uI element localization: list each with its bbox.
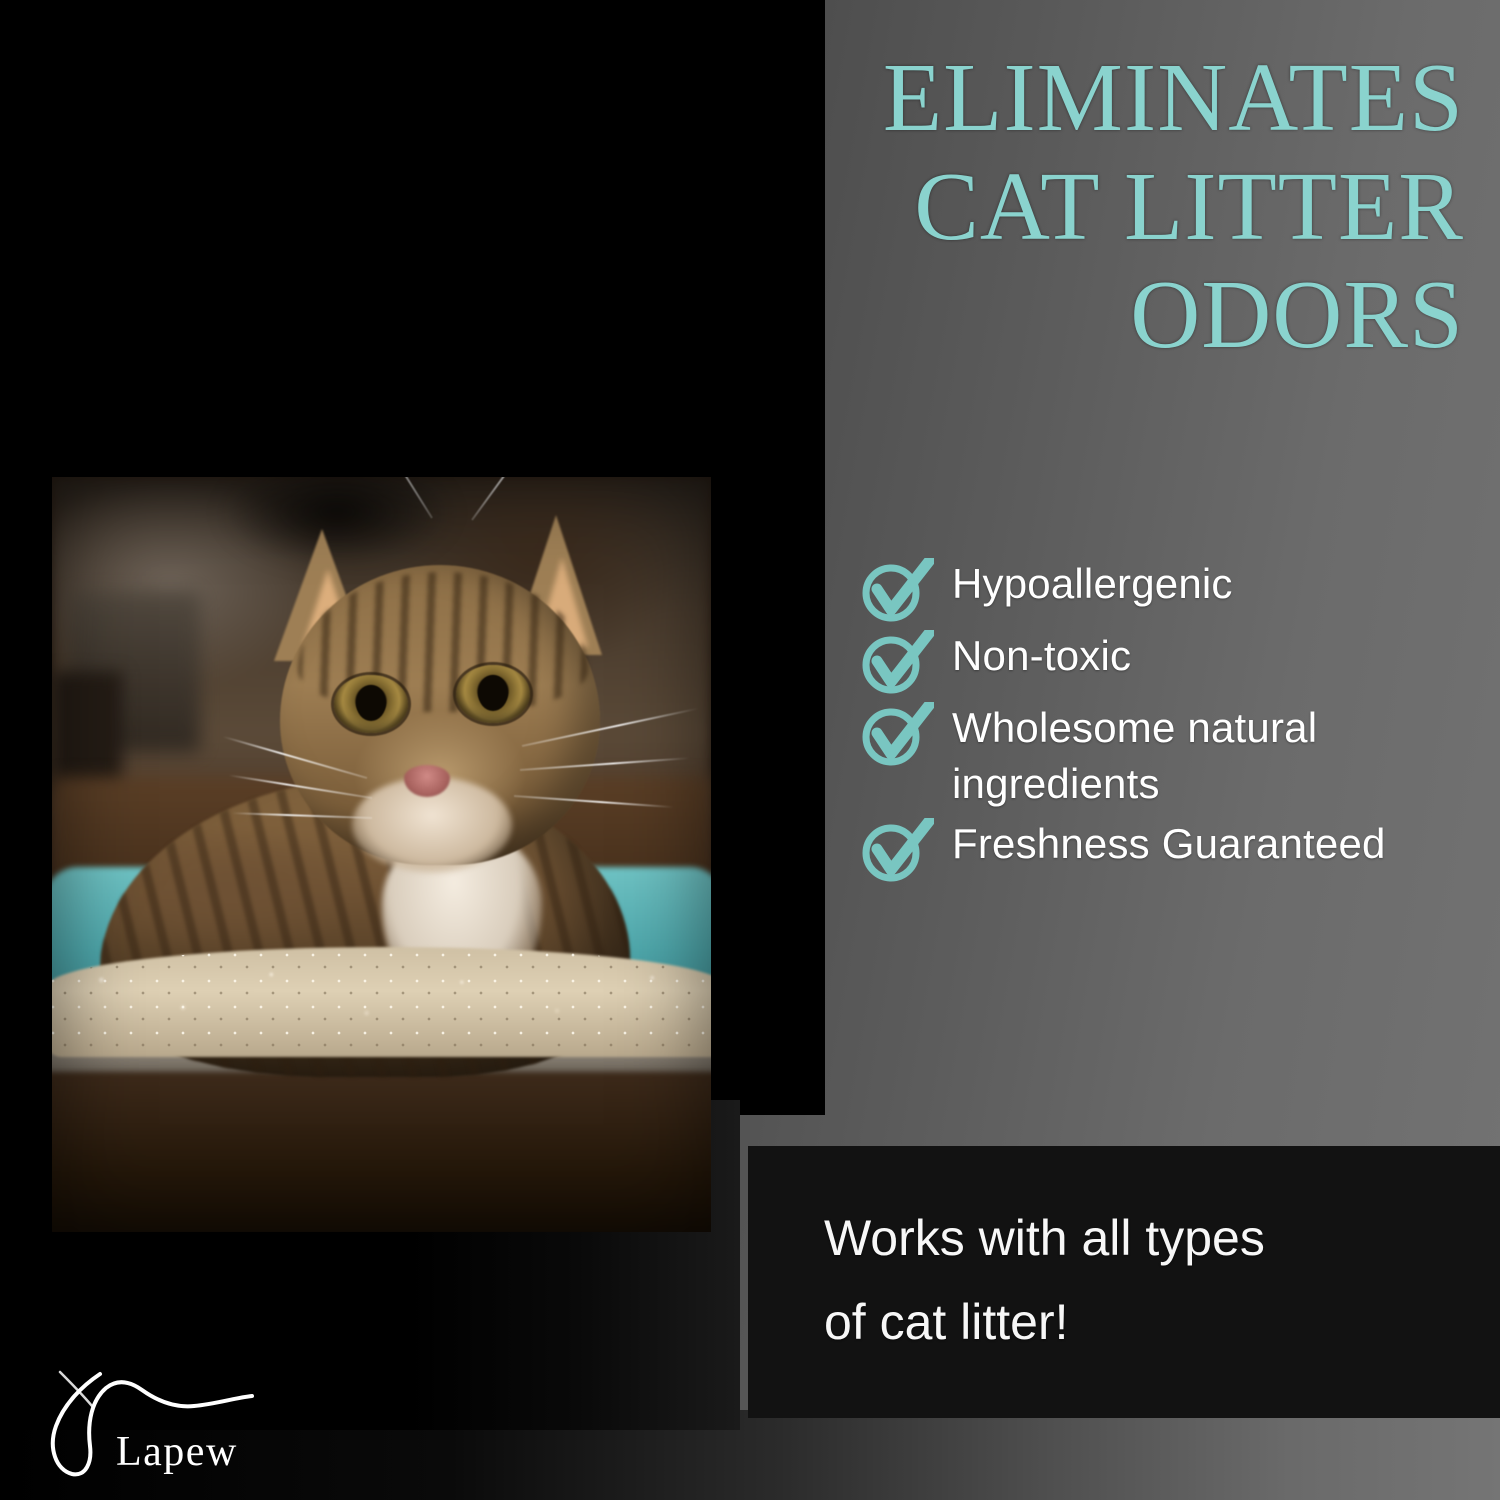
kitten-right-pupil xyxy=(478,675,508,711)
list-item: Non-toxic xyxy=(860,628,1480,696)
list-item-label: Wholesome natural ingredients xyxy=(952,700,1382,812)
product-photo xyxy=(52,477,711,1232)
list-item: Wholesome natural ingredients xyxy=(860,700,1480,812)
cat-litter-texture xyxy=(52,947,711,1057)
check-circle-icon xyxy=(860,630,934,696)
feature-list: Hypoallergenic Non-toxic Wholesome natur… xyxy=(860,556,1480,888)
list-item-label: Non-toxic xyxy=(952,628,1131,684)
brand-name: Lapew xyxy=(116,1428,238,1476)
photo-background-cabinet-dark xyxy=(52,672,122,792)
page-title: ELIMINATES CAT LITTER ODORS xyxy=(644,44,1464,370)
list-item-label: Freshness Guaranteed xyxy=(952,816,1386,872)
check-circle-icon xyxy=(860,558,934,624)
list-item-label: Hypoallergenic xyxy=(952,556,1233,612)
check-circle-icon xyxy=(860,818,934,884)
litter-box-front-shadow xyxy=(52,1072,711,1232)
callout-box: Works with all types of cat litter! xyxy=(748,1146,1500,1418)
list-item: Freshness Guaranteed xyxy=(860,816,1480,884)
callout-text: Works with all types of cat litter! xyxy=(824,1196,1464,1364)
check-circle-icon xyxy=(860,702,934,768)
list-item: Hypoallergenic xyxy=(860,556,1480,624)
kitten-left-pupil xyxy=(356,685,386,721)
product-ad-canvas: ELIMINATES CAT LITTER ODORS xyxy=(0,0,1500,1500)
brand-logo: Lapew xyxy=(30,1370,330,1490)
